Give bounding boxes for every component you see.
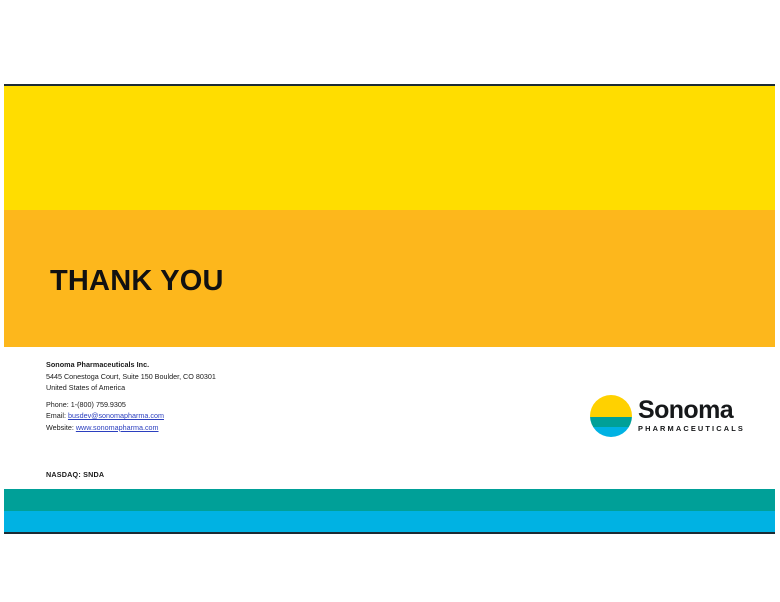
teal-band [4, 489, 775, 511]
page-title: THANK YOU [50, 267, 224, 296]
company-website-line: Website: www.sonomapharma.com [46, 422, 216, 434]
company-address: 5445 Conestoga Court, Suite 150 Boulder,… [46, 371, 216, 383]
website-label: Website: [46, 423, 74, 432]
logo-name: Sonoma [638, 399, 745, 423]
yellow-band [4, 86, 775, 210]
sonoma-sun-icon [589, 394, 633, 438]
company-logo: Sonoma PHARMACEUTICALS [585, 392, 735, 440]
thank-you-slide: THANK YOU Sonoma Pharmaceuticals Inc. 54… [4, 84, 775, 534]
company-phone: Phone: 1-(800) 759.9305 [46, 399, 216, 411]
company-country: United States of America [46, 382, 216, 394]
email-label: Email: [46, 411, 66, 420]
logo-subtitle: PHARMACEUTICALS [638, 425, 745, 432]
cyan-band [4, 511, 775, 534]
contact-block: Sonoma Pharmaceuticals Inc. 5445 Conesto… [46, 359, 216, 434]
company-name: Sonoma Pharmaceuticals Inc. [46, 359, 216, 371]
website-link[interactable]: www.sonomapharma.com [76, 423, 159, 432]
email-link[interactable]: busdev@sonomapharma.com [68, 411, 164, 420]
status-badge: NASDAQ: SNDA [46, 470, 104, 479]
company-email-line: Email: busdev@sonomapharma.com [46, 410, 216, 422]
logo-wordmark: Sonoma PHARMACEUTICALS [638, 399, 745, 432]
